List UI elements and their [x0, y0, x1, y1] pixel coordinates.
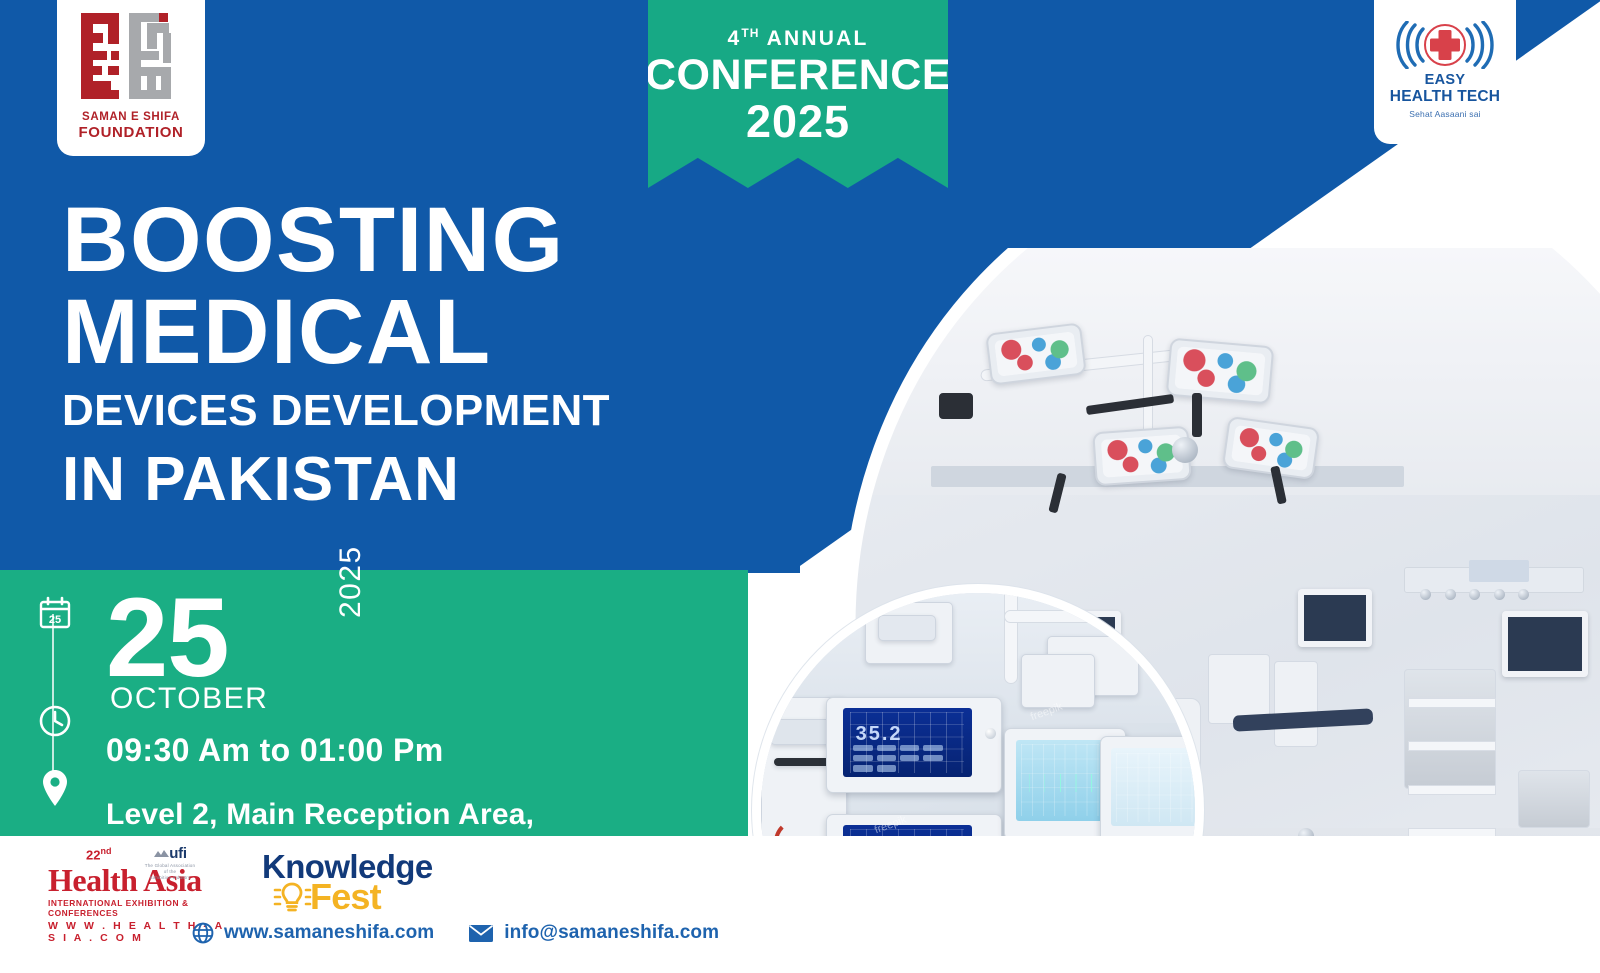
- partner-logo[interactable]: EASY HEALTH TECH Sehat Aasaani sai: [1374, 0, 1516, 144]
- ufi-sub1: The Global Association of the: [144, 863, 196, 875]
- lightbulb-icon: [272, 880, 312, 914]
- event-time: 09:30 Am to 01:00 Pm: [106, 732, 734, 769]
- headline-line3: DEVICES DEVELOPMENT: [62, 380, 762, 442]
- ribbon-conference-label: CONFERENCE: [645, 54, 951, 97]
- event-day: 25: [106, 582, 229, 694]
- event-details: 25 25 OCTOBER 2025 09:30 Am to 01:00 Pm …: [34, 586, 734, 870]
- health-asia-edition-number: 22: [86, 847, 100, 862]
- health-asia-subtitle: INTERNATIONAL EXHIBITION & CONFERENCES: [48, 898, 228, 918]
- organizer-logo-line1: SAMAN E SHIFA: [82, 111, 180, 124]
- partner-logo-tagline: Sehat Aasaani sai: [1409, 109, 1480, 119]
- monitor-screen: 35.2: [826, 697, 1002, 793]
- event-date: 25 OCTOBER 2025: [106, 586, 734, 698]
- event-venue-line1: Level 2, Main Reception Area,: [106, 797, 734, 834]
- envelope-icon: [468, 924, 494, 943]
- location-pin-icon: [38, 768, 72, 813]
- health-asia-title: Health Asia: [48, 864, 228, 896]
- globe-icon: [192, 922, 214, 944]
- svg-text:25: 25: [49, 614, 61, 626]
- calendar-icon: 25: [38, 596, 72, 635]
- headline: BOOSTING MEDICAL DEVICES DEVELOPMENT IN …: [62, 196, 762, 518]
- ribbon-annual-word: ANNUAL: [767, 27, 869, 50]
- ribbon-edition-suffix: TH: [741, 26, 759, 40]
- ufi-badge: ufi The Global Association of the Exhibi…: [144, 845, 196, 881]
- partner-logo-line2: HEALTH TECH: [1390, 88, 1500, 105]
- contact-bar: www.samaneshifa.com info@samaneshifa.com: [192, 922, 719, 944]
- medical-cross-signal-icon: [1393, 21, 1497, 69]
- ribbon-year: 2025: [746, 99, 850, 144]
- event-year: 2025: [334, 545, 368, 618]
- ribbon-edition-number: 4: [727, 27, 741, 50]
- organizer-logo-line2: FOUNDATION: [79, 124, 184, 142]
- health-asia-edition-suffix: nd: [100, 846, 111, 856]
- ufi-word: ufi: [169, 845, 186, 862]
- headline-line1: BOOSTING: [62, 196, 762, 285]
- health-asia-edition: 22nd: [86, 846, 111, 862]
- ribbon-edition-label: 4TH ANNUAL: [727, 26, 868, 51]
- headline-line4: IN PAKISTAN: [62, 442, 762, 518]
- footer-bar: [0, 836, 1600, 973]
- organizer-logo[interactable]: SAMAN E SHIFA FOUNDATION: [57, 0, 205, 156]
- event-month: OCTOBER: [110, 682, 268, 716]
- knowledge-fest-word2: Fest: [310, 879, 381, 915]
- contact-email[interactable]: info@samaneshifa.com: [504, 922, 719, 944]
- partner-logo-line1: EASY: [1425, 72, 1466, 88]
- knowledge-fest-logo[interactable]: Knowledge Fest: [262, 850, 432, 915]
- headline-line2: MEDICAL: [62, 285, 762, 380]
- contact-website[interactable]: www.samaneshifa.com: [224, 922, 434, 944]
- ufi-sub2: Exhibition Industry: [144, 875, 196, 881]
- clock-icon: [38, 704, 72, 743]
- kufic-calligraphy-icon: [75, 11, 187, 103]
- conference-poster: 35.2 freepik: [0, 0, 1600, 973]
- monitor-screen: [1100, 736, 1204, 844]
